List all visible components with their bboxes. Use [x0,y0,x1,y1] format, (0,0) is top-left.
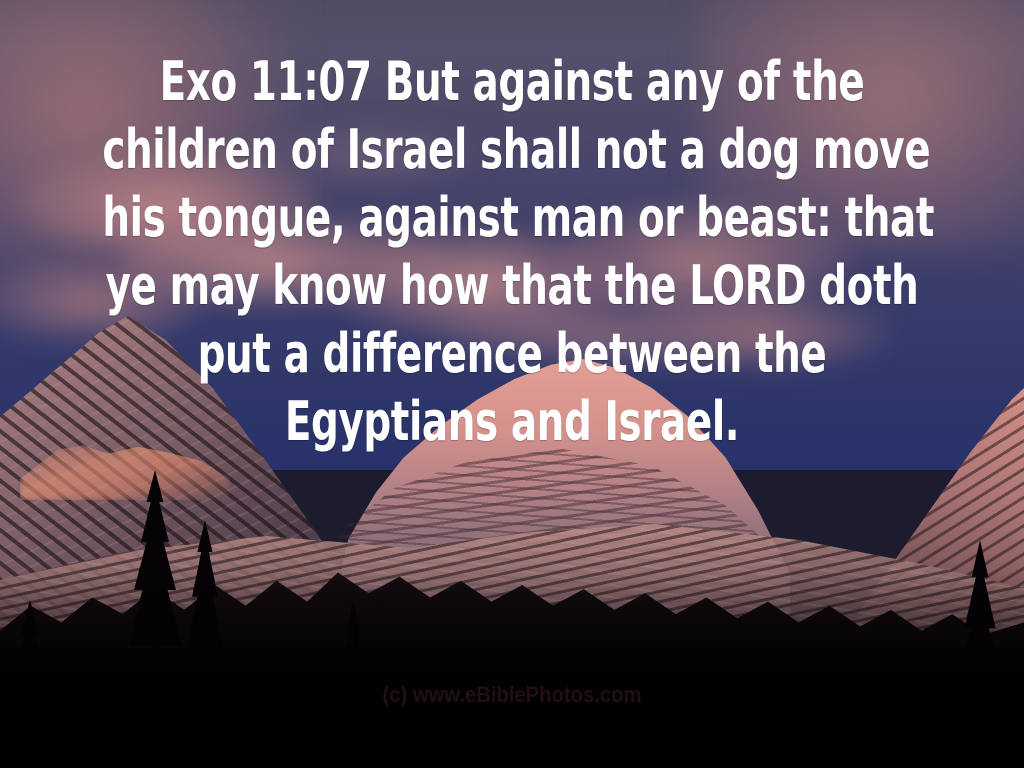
watermark-credit: (c) www.eBiblePhotos.com [41,682,983,708]
verse-text-block: Exo 11:07 But against any of the childre… [0,48,1024,456]
verse-line-1: Exo 11:07 But against any of the [102,48,921,116]
verse-line-3: his tongue, against man or beast: that [102,184,921,252]
verse-line-6: Egyptians and Israel. [102,388,921,456]
verse-image: Exo 11:07 But against any of the childre… [0,0,1024,768]
verse-line-5: put a difference between the [102,320,921,388]
bottom-vignette [0,568,1024,768]
verse-line-4: ye may know how that the LORD doth [102,252,921,320]
verse-line-2: children of Israel shall not a dog move [102,116,921,184]
